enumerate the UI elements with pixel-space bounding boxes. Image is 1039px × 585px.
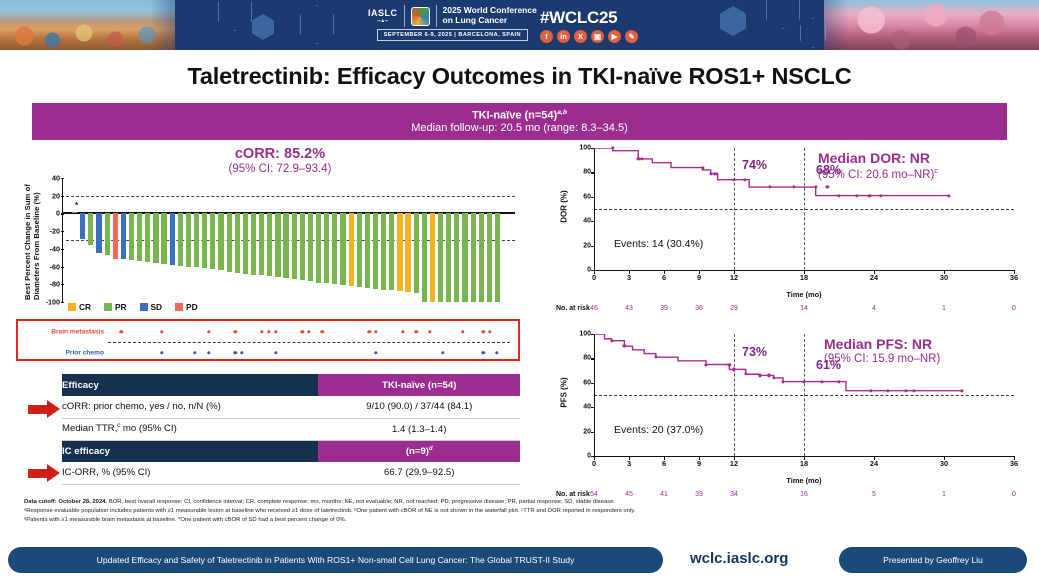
brain-metastasis-marker [428,330,431,333]
brain-metastasis-marker [260,330,263,333]
km-x-tick: 36 [1010,459,1018,468]
waterfall-bar [218,213,223,270]
waterfall-bar [471,213,476,302]
brain-metastasis-marker [160,330,163,333]
waterfall-bar [96,213,101,253]
dor-risk-label: No. at risk [556,305,590,312]
waterfall-bar [454,213,459,302]
waterfall-bar [381,213,386,289]
prior-chemo-marker [160,351,163,354]
globe-icon [411,7,430,26]
prior-chemo-marker [274,351,277,354]
km-risk-value: 54 [590,491,598,498]
waterfall-y-tickmark [61,302,64,303]
table-row: IC-ORR, % (95% CI) 66.7 (29.9–92.5) [62,462,520,484]
waterfall-bar [430,213,435,302]
prior-chemo-marker [207,351,210,354]
waterfall-bar [308,213,313,280]
km-x-tick: 0 [592,273,596,282]
waterfall-legend-item: CR [68,302,91,312]
km-x-tickmark [734,456,735,460]
km-x-tickmark [629,270,630,274]
km-risk-value: 41 [660,491,668,498]
waterfall-bar [300,213,305,279]
linkedin-icon[interactable]: in [557,30,570,43]
dor-median-ci-sup: c [934,167,938,175]
brain-metastasis-marker [120,330,123,333]
waterfall-bar [495,213,500,302]
waterfall-bar [324,213,329,283]
waterfall-bars [66,178,515,302]
footnote-line-3: ᵈPatients with ≥1 measurable brain metas… [24,516,1024,525]
legend-swatch-icon [104,303,112,311]
brain-metastasis-marker [274,330,277,333]
km-x-tick: 24 [870,273,878,282]
iaslc-wordmark: IASLC ⎯▲⎯ [368,9,398,24]
km-x-tick: 18 [800,459,808,468]
presenter-pill: Presented by Geoffrey Liu [839,547,1027,573]
waterfall-bar [105,213,110,255]
dor-y-axis-label-text: DOR (%) [560,190,569,222]
iaslc-logo-block: IASLC ⎯▲⎯ 2025 World Conference on Lung … [368,5,537,41]
km-x-tickmark [699,270,700,274]
table-row: Median TTR,c mo (95% CI) 1.4 (1.3–1.4) [62,418,520,440]
waterfall-plot-area: * [66,178,515,302]
waterfall-bar [292,213,297,279]
km-x-tickmark [594,456,595,460]
km-x-tickmark [594,270,595,274]
table-header-ic-efficacy: IC efficacy [62,440,318,462]
hex-decor-icon [720,6,746,36]
waterfall-legend-item: SD [140,302,163,312]
corr-ci: (95% CI: 72.9–93.4) [150,163,410,175]
prior-chemo-marker [374,351,377,354]
table-header-efficacy: Efficacy [62,374,318,396]
km-y-tick: 100 [579,331,591,338]
waterfall-bar [153,213,158,263]
km-x-tickmark [804,456,805,460]
waterfall-bar [389,213,394,290]
ic-cohort-text: (n=9) [406,446,429,457]
waterfall-bar [170,213,175,264]
table-header-ic-cohort: (n=9)d [318,440,520,462]
waterfall-legend-item: PR [104,302,127,312]
km-survival-curve [594,334,1014,456]
conference-banner: IASLC ⎯▲⎯ 2025 World Conference on Lung … [0,0,1039,50]
brain-metastasis-marker [321,330,324,333]
waterfall-y-axis [62,178,63,302]
pfs-plot-area: 0204060801000369121824303673%61% [594,334,1014,456]
brain-metastasis-row: Brain metastasis [18,321,518,342]
waterfall-bar [129,213,134,260]
waterfall-chart: Best Percent Change in Sum ofDiameters F… [22,178,517,318]
waterfall-bar [283,213,288,278]
waterfall-bar [349,213,354,286]
x-twitter-icon[interactable]: X [574,30,587,43]
km-x-tick: 12 [730,459,738,468]
waterfall-bar [365,213,370,287]
km-risk-value: 45 [625,491,633,498]
waterfall-bar [251,213,256,274]
banner-photo-right [824,0,1039,50]
km-x-tickmark [1014,456,1015,460]
km-x-tick: 24 [870,459,878,468]
brain-metastasis-marker [307,330,310,333]
efficacy-table: Efficacy TKI-naïve (n=54) cORR: prior ch… [62,374,520,485]
km-x-tick: 9 [697,459,701,468]
km-x-tick: 6 [662,459,666,468]
waterfall-bar [316,213,321,282]
row-label-corr-prior-chemo: cORR: prior chemo, yes / no, n/N (%) [62,396,318,418]
dor-median-ci: (95% CI: 20.6 mo–NR)c [818,167,938,181]
brain-metastasis-marker [414,330,417,333]
waterfall-bar [340,213,345,285]
row-value-median-ttr: 1.4 (1.3–1.4) [318,418,520,440]
divider [436,5,437,27]
waterfall-y-axis-label: Best Percent Change in Sum ofDiameters F… [22,178,42,306]
waterfall-bar [235,213,240,272]
row-pointer-arrow [28,464,62,482]
banner-photo-left [0,0,175,50]
km-x-tickmark [804,270,805,274]
prior-chemo-marker [495,351,498,354]
km-risk-value: 39 [660,305,668,312]
waterfall-bar [243,213,248,273]
brain-metastasis-marker [267,330,270,333]
waterfall-bar [88,213,93,245]
waterfall-bar [414,213,419,293]
brain-metastasis-label: Brain metastasis [51,328,104,335]
km-x-tickmark [1014,270,1015,274]
waterfall-bar [462,213,467,302]
median-followup: Median follow-up: 20.5 mo (range: 8.3–34… [32,122,1007,134]
waterfall-bar [405,213,410,292]
conference-line2: on Lung Cancer [443,16,537,26]
cohort-label-text: TKI-naïve (n=54) [472,109,557,121]
youtube-icon[interactable]: ▶ [608,30,621,43]
legend-label: PD [186,302,198,312]
waterfall-bar [137,213,142,261]
waterfall-y-tick: -40 [50,244,60,253]
dor-median-ci-text: (95% CI: 20.6 mo–NR) [818,169,934,181]
conference-name: 2025 World Conference on Lung Cancer [443,6,537,25]
data-cutoff: Data cutoff: October 28, 2024. [24,499,107,505]
slide: IASLC ⎯▲⎯ 2025 World Conference on Lung … [0,0,1039,585]
pfs-median-ci: (95% CI: 15.9 mo–NR) [824,353,940,365]
legend-swatch-icon [140,303,148,311]
row-value-ic-orr: 66.7 (29.9–92.5) [318,462,520,484]
km-survival-curve [594,148,1014,270]
legend-label: CR [79,302,91,312]
km-risk-value: 39 [695,491,703,498]
prior-chemo-marker [234,351,237,354]
bottom-bar: Updated Efficacy and Safety of Taletrect… [0,540,1039,585]
page-title: Taletrectinib: Efficacy Outcomes in TKI-… [0,63,1039,90]
km-risk-value: 5 [872,491,876,498]
row-value-corr-prior-chemo: 9/10 (90.0) / 37/44 (84.1) [318,396,520,418]
instagram-icon[interactable]: ▣ [591,30,604,43]
waterfall-bar [80,213,85,239]
footnotes: Data cutoff: October 28, 2024. BOR, best… [24,498,1024,525]
km-x-tickmark [874,456,875,460]
brain-metastasis-marker [368,330,371,333]
dor-plot-area: 0204060801000369121824303674%68% [594,148,1014,270]
waterfall-bar [446,213,451,302]
hex-decor-icon [252,14,274,40]
km-x-tick: 0 [592,459,596,468]
legend-swatch-icon [68,303,76,311]
prior-chemo-marker [441,351,444,354]
conference-date-location: SEPTEMBER 6-9, 2025 | BARCELONA, SPAIN [377,29,528,41]
brain-metastasis-marker [481,330,484,333]
waterfall-bar [202,213,207,268]
legend-swatch-icon [175,303,183,311]
pfs-km-chart: PFS (%) 0204060801000369121824303673%61%… [556,328,1034,503]
dor-events-text: Events: 14 (30.4%) [614,238,703,250]
dor-title-block: Median DOR: NR (95% CI: 20.6 mo–NR)c [818,150,938,181]
waterfall-bar [178,213,183,265]
km-risk-value: 34 [730,491,738,498]
prior-chemo-row: Prior chemo [18,342,518,363]
waterfall-y-tick: -100 [46,298,60,307]
study-title-pill: Updated Efficacy and Safety of Taletrect… [8,547,663,573]
cohort-label-sup: a,b [557,109,567,116]
waterfall-y-tick: 0 [56,209,60,218]
waterfall-bar [332,213,337,284]
table-section-header-row: IC efficacy (n=9)d [62,440,520,462]
link-icon[interactable]: ✎ [625,30,638,43]
waterfall-y-tick: 20 [52,191,60,200]
prior-chemo-markers [108,342,510,363]
dor-median-title: Median DOR: NR [818,150,938,166]
footnote-line-1: Data cutoff: October 28, 2024. BOR, best… [24,498,1024,507]
pfs-events-text: Events: 20 (37.0%) [614,424,703,436]
brain-metastasis-marker [301,330,304,333]
waterfall-bar [479,213,484,302]
wclc-website[interactable]: wclc.iaslc.org [690,550,788,567]
prior-chemo-label: Prior chemo [66,349,104,356]
brain-metastasis-marker [374,330,377,333]
km-x-tickmark [874,270,875,274]
km-risk-value: 46 [590,305,598,312]
km-x-tick: 3 [627,273,631,282]
km-x-tick: 30 [940,273,948,282]
km-risk-value: 0 [1012,491,1016,498]
conference-hashtag: #WCLC25 [540,8,617,28]
table-header-row: Efficacy TKI-naïve (n=54) [62,374,520,396]
cohort-band: TKI-naïve (n=54)a,b Median follow-up: 20… [32,103,1007,140]
km-risk-value: 36 [695,305,703,312]
km-x-tickmark [664,456,665,460]
waterfall-asterisk-annotation: * [75,201,78,210]
waterfall-bar [275,213,280,277]
km-risk-value: 0 [1012,305,1016,312]
waterfall-bar [72,212,77,214]
km-x-tick: 6 [662,273,666,282]
km-y-tick: 100 [579,145,591,152]
legend-label: SD [151,302,163,312]
iaslc-text: IASLC [368,9,398,18]
social-links: f in X ▣ ▶ ✎ [540,30,638,43]
pfs-risk-label: No. at risk [556,491,590,498]
waterfall-legend: CRPRSDPD [68,302,198,312]
legend-label: PR [115,302,127,312]
banner-fade-left [150,0,220,50]
facebook-icon[interactable]: f [540,30,553,43]
waterfall-bar [397,213,402,291]
table-row: cORR: prior chemo, yes / no, n/N (%) 9/1… [62,396,520,418]
ic-cohort-sup: d [429,446,433,452]
row-label-median-ttr: Median TTR,c mo (95% CI) [62,418,318,440]
waterfall-bar [357,213,362,287]
row-label-median-ttr-post: mo (95% CI) [120,424,177,435]
corr-value: cORR: 85.2% [150,146,410,162]
waterfall-bar [161,213,166,263]
waterfall-y-tick: -80 [50,280,60,289]
waterfall-legend-item: PD [175,302,198,312]
km-x-tickmark [944,270,945,274]
pfs-x-axis-label: Time (mo) [786,476,821,485]
km-x-tickmark [629,456,630,460]
row-pointer-arrow [28,400,62,418]
divider [404,5,405,27]
pfs-y-axis-label: PFS (%) [556,328,572,456]
brain-metastasis-marker [207,330,210,333]
waterfall-y-tick: -20 [50,227,60,236]
footnote-line-2: ᵃResponse evaluable population includes … [24,507,1024,516]
pfs-title-block: Median PFS: NR (95% CI: 15.9 mo–NR) [824,336,940,365]
dor-km-chart: DOR (%) 0204060801000369121824303674%68%… [556,142,1034,317]
waterfall-bar [259,213,264,275]
corr-header: cORR: 85.2% (95% CI: 72.9–93.4) [150,146,410,175]
km-risk-value: 4 [872,305,876,312]
km-x-tickmark [734,270,735,274]
waterfall-bar [186,213,191,266]
waterfall-y-tick: -60 [50,262,60,271]
hex-decor-icon [218,0,252,31]
brain-metastasis-marker [234,330,237,333]
km-x-tickmark [944,456,945,460]
row-label-median-ttr-pre: Median TTR, [62,424,117,435]
waterfall-bar [227,213,232,271]
waterfall-bar [438,213,443,302]
waterfall-bar [422,213,427,302]
km-x-tick: 36 [1010,273,1018,282]
pfs-y-axis-label-text: PFS (%) [560,377,569,407]
km-x-tick: 30 [940,459,948,468]
waterfall-bar [373,213,378,288]
km-risk-value: 29 [730,305,738,312]
km-x-tick: 3 [627,459,631,468]
marker-rows-box: Brain metastasis Prior chemo [16,319,520,361]
waterfall-bar [210,213,215,269]
abbreviations: BOR, best overall response; CI, confiden… [107,499,615,505]
table-header-cohort: TKI-naïve (n=54) [318,374,520,396]
brain-metastasis-markers [108,321,510,342]
waterfall-bar [113,213,118,258]
hex-decor-icon [300,5,334,44]
km-x-tickmark [664,270,665,274]
waterfall-y-tick: 40 [52,174,60,183]
pfs-median-title: Median PFS: NR [824,336,940,352]
km-risk-value: 43 [625,305,633,312]
waterfall-bar [267,213,272,276]
km-risk-value: 14 [800,305,808,312]
brain-metastasis-marker [461,330,464,333]
waterfall-bar [194,213,199,267]
dor-x-axis-label: Time (mo) [786,290,821,299]
km-risk-value: 1 [942,491,946,498]
km-x-tickmark [699,456,700,460]
km-x-tick: 9 [697,273,701,282]
waterfall-bar [145,213,150,262]
waterfall-bar [487,213,492,302]
row-label-ic-orr: IC-ORR, % (95% CI) [62,462,318,484]
km-x-tick: 18 [800,273,808,282]
km-risk-value: 16 [800,491,808,498]
waterfall-y-axis-label-text: Best Percent Change in Sum ofDiameters F… [23,184,41,300]
waterfall-bar [121,213,126,259]
waterfall-y-ticks: 40200-20-40-60-80-100 [40,178,64,302]
brain-metastasis-marker [488,330,491,333]
km-risk-value: 1 [942,305,946,312]
brain-metastasis-marker [401,330,404,333]
dor-y-axis-label: DOR (%) [556,142,572,270]
prior-chemo-marker [240,351,243,354]
prior-chemo-marker [481,351,484,354]
cohort-label: TKI-naïve (n=54)a,b [32,109,1007,122]
km-x-tick: 12 [730,273,738,282]
prior-chemo-marker [193,351,196,354]
